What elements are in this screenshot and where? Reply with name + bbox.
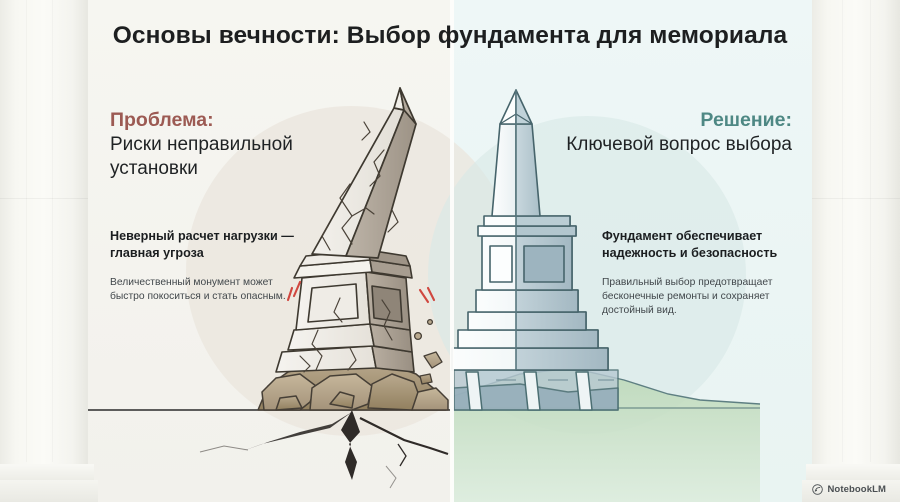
left-body-heading: Неверный расчет нагрузки — главная угроз… (110, 228, 300, 262)
solution-kicker: Решение: (556, 108, 792, 132)
right-column-heading: Решение: Ключевой вопрос выбора (556, 108, 792, 157)
watermark-label: NotebookLM (827, 484, 886, 495)
problem-kicker: Проблема: (110, 108, 345, 132)
problem-lede: Риски неправильной установки (110, 133, 345, 181)
left-body-block: Неверный расчет нагрузки — главная угроз… (110, 228, 300, 304)
solution-lede: Ключевой вопрос выбора (556, 133, 792, 157)
infographic-slide: Основы вечности: Выбор фундамента для ме… (0, 0, 900, 502)
left-column-heading: Проблема: Риски неправильной установки (110, 108, 345, 181)
right-decorative-pillar (812, 0, 900, 502)
right-body-block: Фундамент обеспечивает надежность и безо… (602, 228, 802, 318)
page-title: Основы вечности: Выбор фундамента для ме… (0, 22, 900, 50)
left-body-text: Величественный монумент может быстро пок… (110, 276, 300, 304)
left-decorative-pillar (0, 0, 88, 502)
center-divider (450, 0, 454, 502)
watermark: NotebookLM (812, 484, 886, 495)
right-body-text: Правильный выбор предотвращает бесконечн… (602, 276, 802, 319)
notebooklm-icon (812, 484, 823, 495)
right-body-heading: Фундамент обеспечивает надежность и безо… (602, 228, 802, 262)
